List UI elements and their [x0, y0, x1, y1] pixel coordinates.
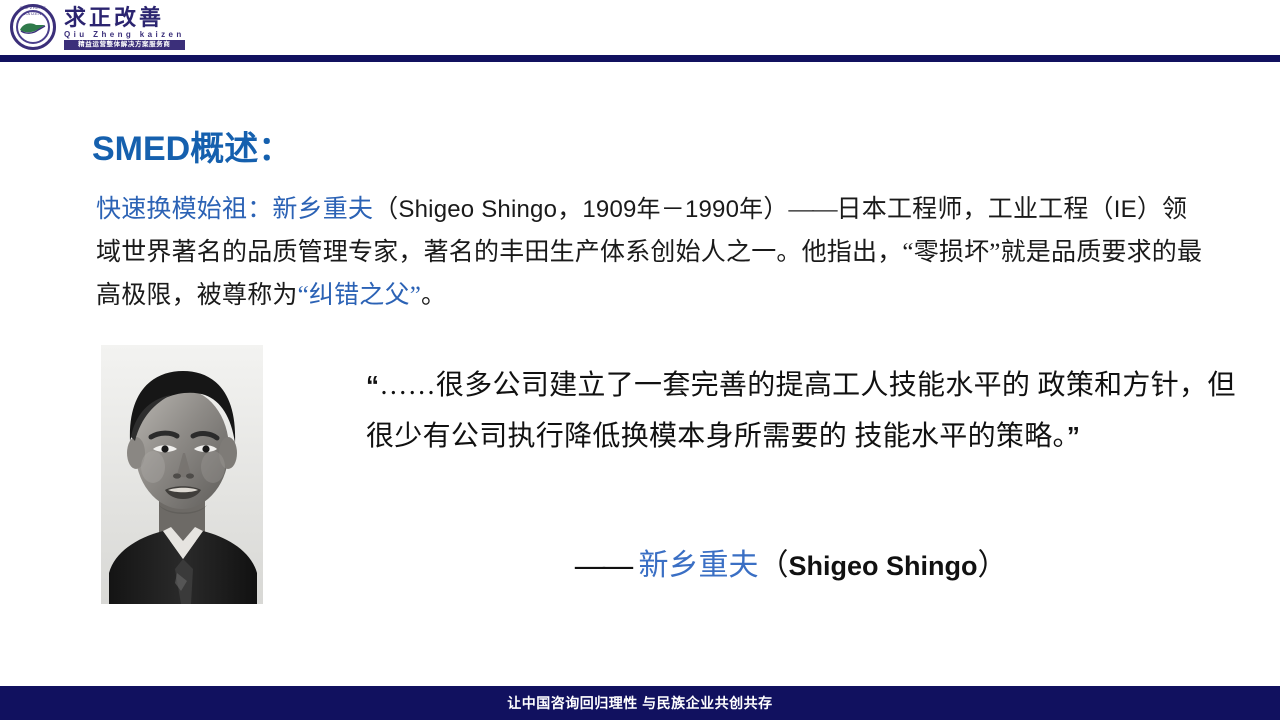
logo-emblem-icon: QIU ZHENG KAIZEN — [8, 2, 60, 54]
header-divider-rule — [0, 55, 1280, 62]
attribution-name-english: Shigeo Shingo — [789, 551, 978, 581]
quote-open-mark: “ — [366, 370, 379, 400]
logo-tagline: 精益运营整体解决方案服务商 — [64, 40, 185, 50]
quote-close-mark: ” — [1067, 421, 1080, 451]
logo-swoosh-icon — [19, 21, 47, 35]
quote-line-3: 的策略。 — [968, 421, 1067, 452]
logo-chinese-name: 求正改善 — [64, 6, 185, 30]
logo-pinyin: Qiu Zheng kaizen — [64, 30, 185, 40]
intro-person-english: Shigeo Shingo — [398, 196, 557, 223]
intro-ie-abbrev: IE — [1114, 196, 1137, 223]
intro-em-dash: —— — [789, 196, 837, 223]
intro-highlight-term: 纠错之父 — [309, 282, 410, 309]
intro-paren-open: （ — [373, 196, 398, 223]
pull-quote: “……很多公司建立了一套完善的提高工人技能水平的 政策和方针，但很少有公司执行降… — [366, 360, 1246, 462]
intro-body-1: 日本工程师，工业工程（ — [837, 196, 1114, 223]
intro-comma: ， — [557, 196, 582, 223]
intro-label: 快速换模始祖： — [96, 196, 272, 223]
company-logo: QIU ZHENG KAIZEN 求正改善 Qiu Zheng kaizen 精… — [8, 2, 198, 54]
intro-highlight-quote-close: ” — [410, 282, 421, 309]
slide-canvas: QIU ZHENG KAIZEN 求正改善 Qiu Zheng kaizen 精… — [0, 0, 1280, 720]
attribution-paren-close: ） — [978, 549, 1008, 582]
slide-title-latin: SMED — [92, 130, 190, 168]
quote-attribution: —— 新乡重夫（Shigeo Shingo） — [575, 543, 1008, 589]
attribution-name-chinese: 新乡重夫 — [639, 549, 759, 582]
slide-title-chinese: 概述： — [190, 131, 292, 168]
attribution-paren-open: （ — [759, 549, 789, 582]
intro-paragraph: 快速换模始祖：新乡重夫（Shigeo Shingo，1909年－1990年）——… — [96, 188, 1208, 317]
intro-person-chinese: 新乡重夫 — [272, 196, 373, 223]
logo-arc-text: QIU ZHENG KAIZEN — [14, 5, 52, 17]
quote-line-1: 很多公司建立了一套完善的提高工人技能水平的 政策 — [436, 370, 1094, 401]
portrait-image — [101, 345, 263, 604]
intro-life-years: 1909年－1990年 — [582, 196, 763, 223]
intro-paren-close: ） — [763, 196, 788, 223]
intro-period: 。 — [421, 282, 446, 309]
intro-highlight-quote-open: “ — [298, 282, 309, 309]
footer-slogan: 让中国咨询回归理性 与民族企业共创共存 — [0, 686, 1280, 720]
shigeo-shingo-portrait — [101, 345, 263, 604]
logo-wordmark: 求正改善 Qiu Zheng kaizen 精益运营整体解决方案服务商 — [64, 6, 185, 50]
slide-title: SMED概述： — [92, 128, 292, 171]
attribution-dash: —— — [575, 549, 631, 582]
quote-ellipsis: …… — [379, 370, 436, 401]
